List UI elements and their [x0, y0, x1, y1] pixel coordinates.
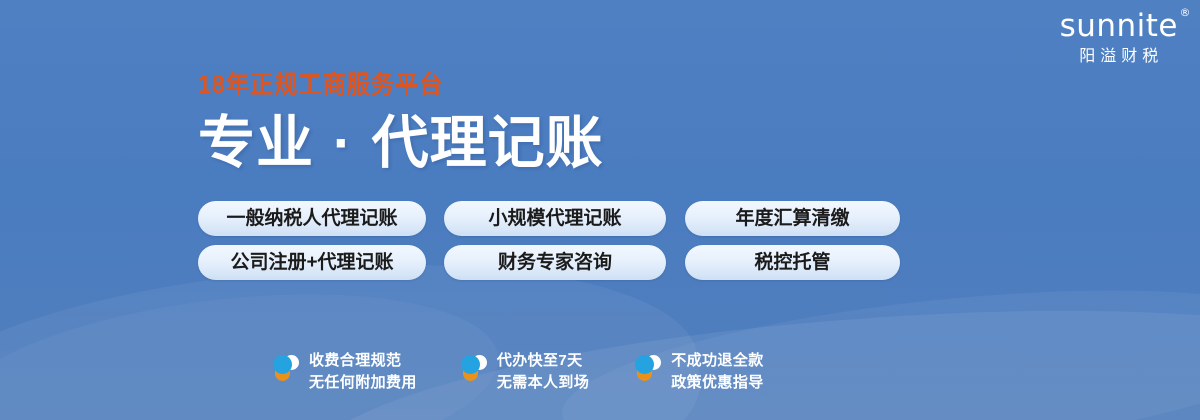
page-title-separator: · [331, 111, 355, 175]
service-pill-tax-control-custody[interactable]: 税控托管 [685, 245, 900, 280]
feature-item-guarantee: 不成功退全款 政策优惠指导 [634, 351, 763, 392]
feature-text-guarantee: 不成功退全款 政策优惠指导 [671, 351, 763, 392]
tagline: 18年正规工商服务平台 [198, 70, 575, 100]
logo-wordmark-text: sunnite [1060, 8, 1178, 44]
feature-text-pricing: 收费合理规范 无任何附加费用 [309, 351, 417, 392]
service-pill-row-1: 一般纳税人代理记账 小规模代理记账 年度汇算清缴 [198, 201, 900, 236]
logo-wordmark: sunnite ® [1060, 8, 1178, 44]
service-pill-small-scale-bookkeeping[interactable]: 小规模代理记账 [444, 201, 666, 236]
promo-banner: sunnite ® 阳溢财税 18年正规工商服务平台 专业 · 代理记账 一般纳… [0, 0, 1200, 420]
feature-line-1: 收费合理规范 [309, 351, 417, 370]
service-pill-company-registration-bookkeeping[interactable]: 公司注册+代理记账 [198, 245, 426, 280]
feature-text-speed: 代办快至7天 无需本人到场 [497, 351, 589, 392]
brand-logo[interactable]: sunnite ® 阳溢财税 [1060, 8, 1178, 67]
blue-circle-shape [461, 355, 480, 374]
page-title-secondary: 代理记账 [372, 111, 604, 175]
service-pill-finance-expert-consulting[interactable]: 财务专家咨询 [444, 245, 666, 280]
registered-trademark-icon: ® [1180, 7, 1192, 18]
page-title: 专业 · 代理记账 [198, 110, 604, 176]
service-pill-row-2: 公司注册+代理记账 财务专家咨询 税控托管 [198, 245, 900, 280]
feature-item-pricing: 收费合理规范 无任何附加费用 [272, 351, 417, 392]
headline-block: 18年正规工商服务平台 专业 · 代理记账 [198, 70, 604, 176]
service-pill-general-taxpayer-bookkeeping[interactable]: 一般纳税人代理记账 [198, 201, 426, 236]
service-pill-grid: 一般纳税人代理记账 小规模代理记账 年度汇算清缴 公司注册+代理记账 财务专家咨… [198, 201, 900, 280]
logo-subtitle: 阳溢财税 [1060, 47, 1178, 67]
feature-line-1: 不成功退全款 [671, 351, 763, 370]
page-title-main: 专业 [198, 111, 314, 175]
dual-circle-icon [634, 353, 662, 387]
service-pill-annual-tax-settlement[interactable]: 年度汇算清缴 [685, 201, 900, 236]
feature-line-2: 政策优惠指导 [671, 373, 763, 392]
dual-circle-icon [460, 353, 488, 387]
dual-circle-icon [272, 353, 300, 387]
feature-line-2: 无需本人到场 [497, 373, 589, 392]
feature-item-speed: 代办快至7天 无需本人到场 [460, 351, 589, 392]
feature-line-1: 代办快至7天 [497, 351, 589, 370]
feature-line-2: 无任何附加费用 [309, 373, 417, 392]
blue-circle-shape [273, 355, 292, 374]
feature-strip: 收费合理规范 无任何附加费用 代办快至7天 无需本人到场 不成功退全款 [272, 351, 764, 392]
